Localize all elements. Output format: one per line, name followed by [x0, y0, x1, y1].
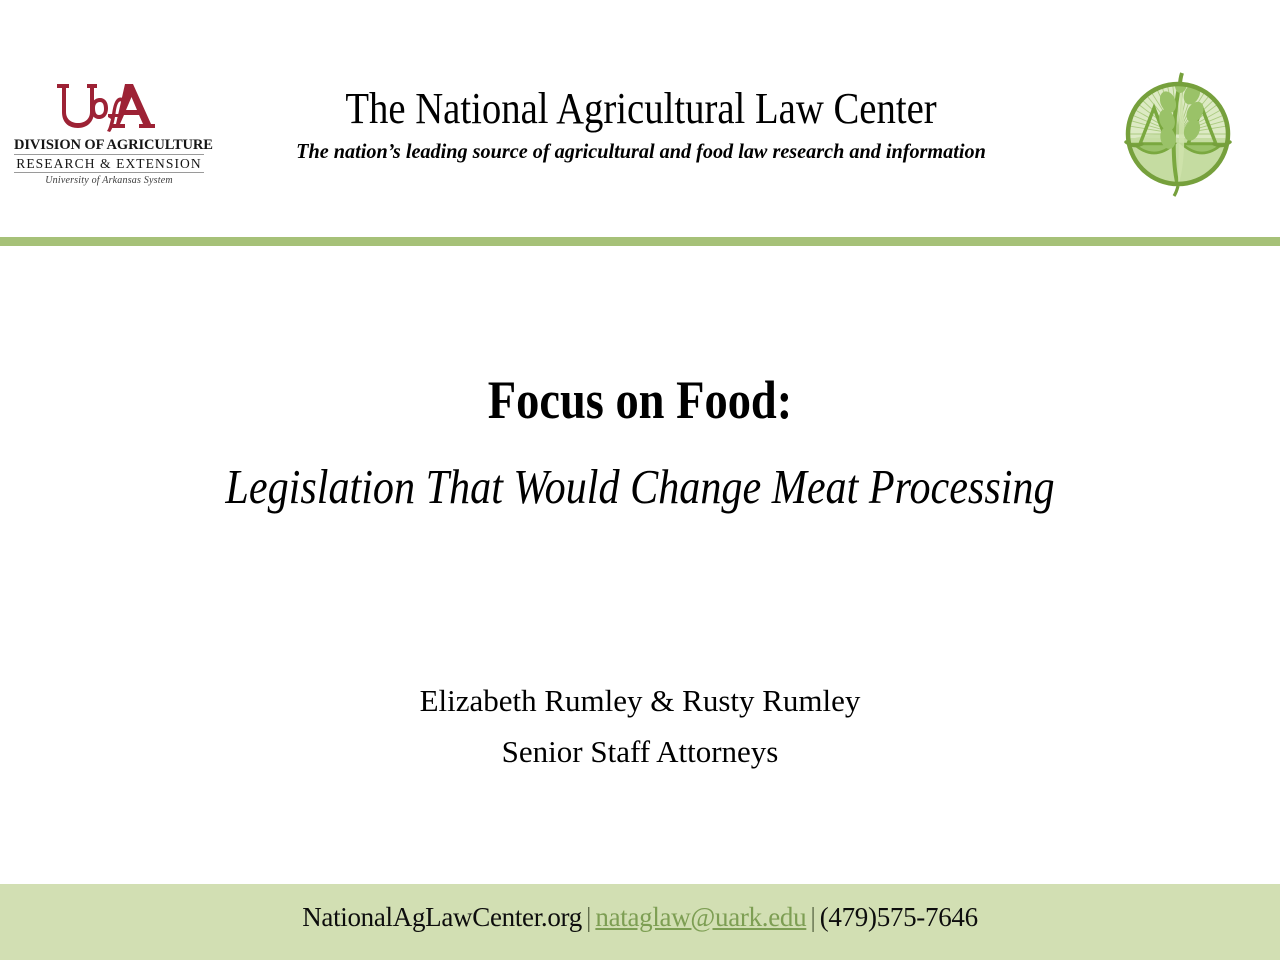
slide-title: Focus on Food:: [90, 372, 1191, 429]
ua-division-of-agriculture-logo: DIVISION OF AGRICULTURE RESEARCH & EXTEN…: [14, 78, 204, 186]
footer-separator-2: |: [806, 902, 819, 932]
slide-header: DIVISION OF AGRICULTURE RESEARCH & EXTEN…: [0, 0, 1280, 237]
title-block: Focus on Food: Legislation That Would Ch…: [0, 372, 1280, 514]
slide-subtitle: Legislation That Would Change Meat Proce…: [90, 461, 1191, 514]
footer-phone: (479)575-7646: [820, 902, 978, 932]
presenter-names: Elizabeth Rumley & Rusty Rumley: [0, 684, 1280, 719]
footer-separator-1: |: [582, 902, 595, 932]
slide: DIVISION OF AGRICULTURE RESEARCH & EXTEN…: [0, 0, 1280, 960]
organization-tagline: The nation’s leading source of agricultu…: [223, 140, 1060, 164]
slide-footer: NationalAgLawCenter.org|nataglaw@uark.ed…: [0, 884, 1280, 960]
slide-body: Focus on Food: Legislation That Would Ch…: [0, 246, 1280, 884]
presenter-block: Elizabeth Rumley & Rusty Rumley Senior S…: [0, 684, 1280, 769]
organization-title-block: The National Agricultural Law Center The…: [196, 86, 1086, 163]
footer-email-link[interactable]: nataglaw@uark.edu: [595, 902, 806, 932]
ua-logo-line-university-system: University of Arkansas System: [14, 173, 204, 186]
presenter-role: Senior Staff Attorneys: [0, 735, 1280, 770]
header-divider-bar: [0, 237, 1280, 246]
ua-logo-line-division: DIVISION OF AGRICULTURE: [14, 138, 204, 155]
footer-contact-line: NationalAgLawCenter.org|nataglaw@uark.ed…: [0, 902, 1280, 933]
organization-name: The National Agricultural Law Center: [249, 86, 1032, 132]
nalc-emblem-icon: [1112, 68, 1244, 200]
ua-logo-line-research-extension: RESEARCH & EXTENSION: [14, 155, 204, 174]
ua-monogram-icon: [14, 78, 204, 136]
footer-website: NationalAgLawCenter.org: [302, 902, 582, 932]
